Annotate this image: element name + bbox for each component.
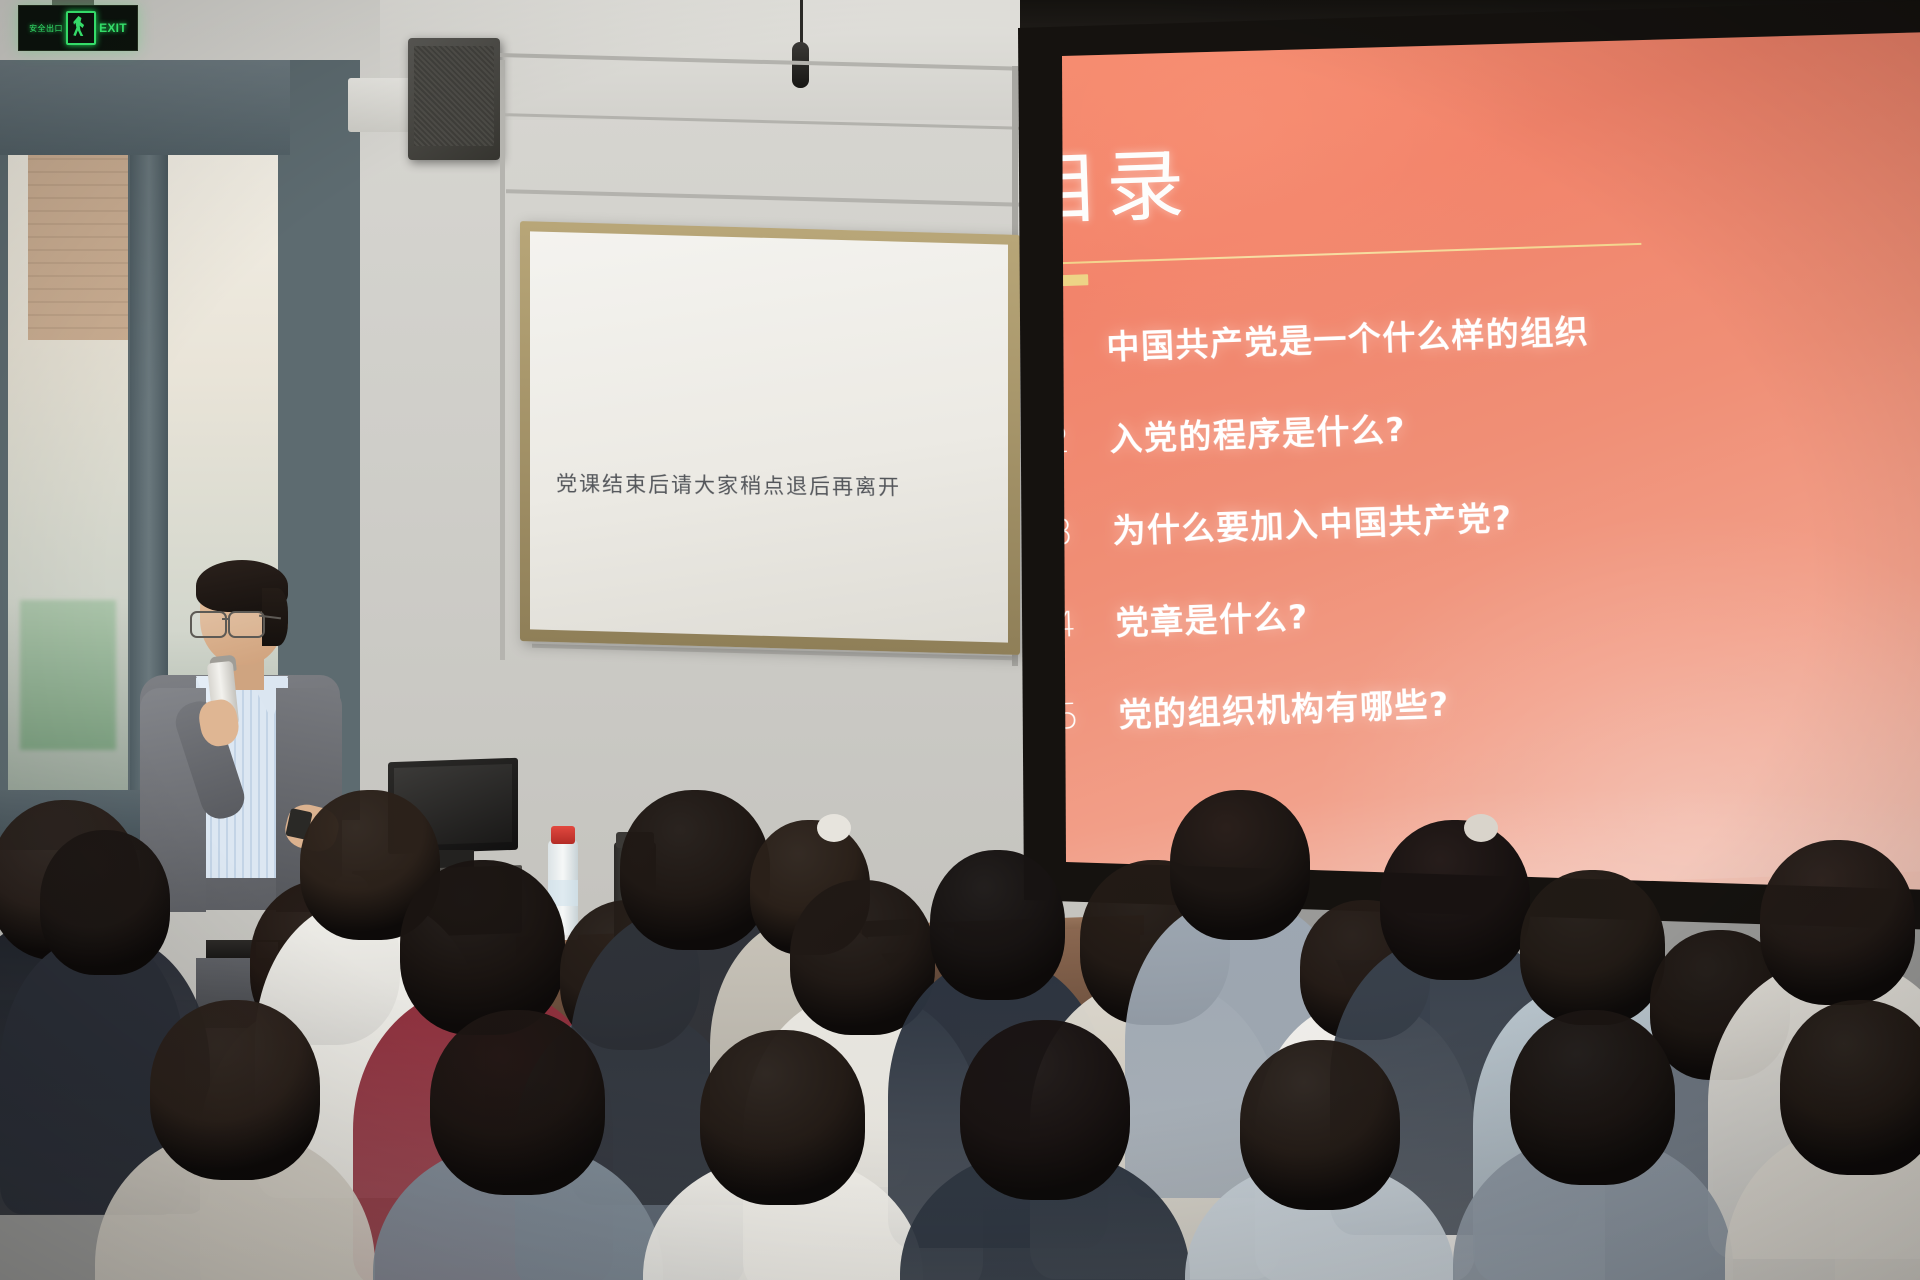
exterior-brick-wall (28, 150, 128, 340)
audience-member-head (930, 850, 1065, 1000)
audience-member-head (620, 790, 770, 950)
whiteboard-handwritten-note: 党课结束后请大家稍点退后再离开 (556, 468, 977, 502)
whiteboard (530, 231, 1008, 642)
audience-member-head (430, 1010, 605, 1195)
presentation-slide: 目录 01 中国共产党是一个什么样的组织 02 入党的程序是什么? 03 为什么… (1062, 32, 1920, 922)
presenter-glasses-bridge (222, 618, 230, 620)
slide-item-number: 05 (1062, 696, 1119, 739)
wall-panel-edge-left (500, 60, 505, 660)
projection-screen: 目录 01 中国共产党是一个什么样的组织 02 入党的程序是什么? 03 为什么… (1062, 32, 1920, 922)
audience-member-head (960, 1020, 1130, 1200)
audience-member-hair-tie (817, 814, 851, 842)
slide-item-number: 02 (1062, 420, 1110, 463)
audience-member-head (1520, 870, 1665, 1025)
lecture-hall-photo: 安全出口 EXIT 党课结束后请大家稍点退后再离开 目录 01 中国共产党是一个… (0, 0, 1920, 1280)
slide-item-text: 中国共产党是一个什么样的组织 (1106, 305, 1590, 369)
slide-item-number: 03 (1062, 512, 1113, 555)
slide-item-text: 党的组织机构有哪些? (1118, 678, 1451, 737)
slide-list-item: 04 党章是什么? (1062, 574, 1790, 647)
audience-member-hair-tie (1464, 814, 1498, 842)
slide-item-number: 01 (1062, 328, 1107, 371)
audience-member-head (1170, 790, 1310, 940)
speaker-wall-mount (348, 78, 412, 132)
hanging-microphone-cable (800, 0, 803, 44)
audience-member-head (1780, 1000, 1920, 1175)
slide-accent-bar (1062, 274, 1088, 287)
slide-item-number: 04 (1062, 604, 1116, 647)
exit-sign-english-label: EXIT (99, 21, 127, 35)
slide-title: 目录 (1062, 115, 1444, 241)
audience-member-head (40, 830, 170, 975)
slide-item-text: 党章是什么? (1115, 590, 1310, 644)
exit-sign-chinese-label: 安全出口 (29, 23, 63, 34)
water-bottle-cap (551, 826, 575, 844)
door-header-panel (0, 60, 290, 155)
speaker-grille (414, 46, 494, 146)
slide-list-item: 05 党的组织机构有哪些? (1062, 666, 1793, 739)
audience-member-head (400, 860, 565, 1035)
slide-divider-line (1062, 243, 1641, 266)
slide-item-text: 入党的程序是什么? (1109, 403, 1407, 461)
exit-sign: 安全出口 EXIT (18, 5, 138, 51)
slide-contents-list: 01 中国共产党是一个什么样的组织 02 入党的程序是什么? 03 为什么要加入… (1062, 298, 1794, 783)
slide-item-text: 为什么要加入中国共产党? (1112, 491, 1514, 552)
audience-member-head (1380, 820, 1530, 980)
slide-list-item: 01 中国共产党是一个什么样的组织 (1062, 298, 1781, 371)
audience-member-head (150, 1000, 320, 1180)
presenter-glasses-left-lens (190, 611, 227, 638)
slide-list-item: 03 为什么要加入中国共产党? (1062, 482, 1787, 555)
audience-member-head (1510, 1010, 1675, 1185)
audience-member-head (1760, 840, 1915, 1005)
audience-member-head (1240, 1040, 1400, 1210)
audience-member-head (700, 1030, 865, 1205)
slide-list-item: 02 入党的程序是什么? (1062, 390, 1784, 463)
running-person-icon (66, 11, 96, 45)
exterior-foliage (20, 600, 116, 750)
